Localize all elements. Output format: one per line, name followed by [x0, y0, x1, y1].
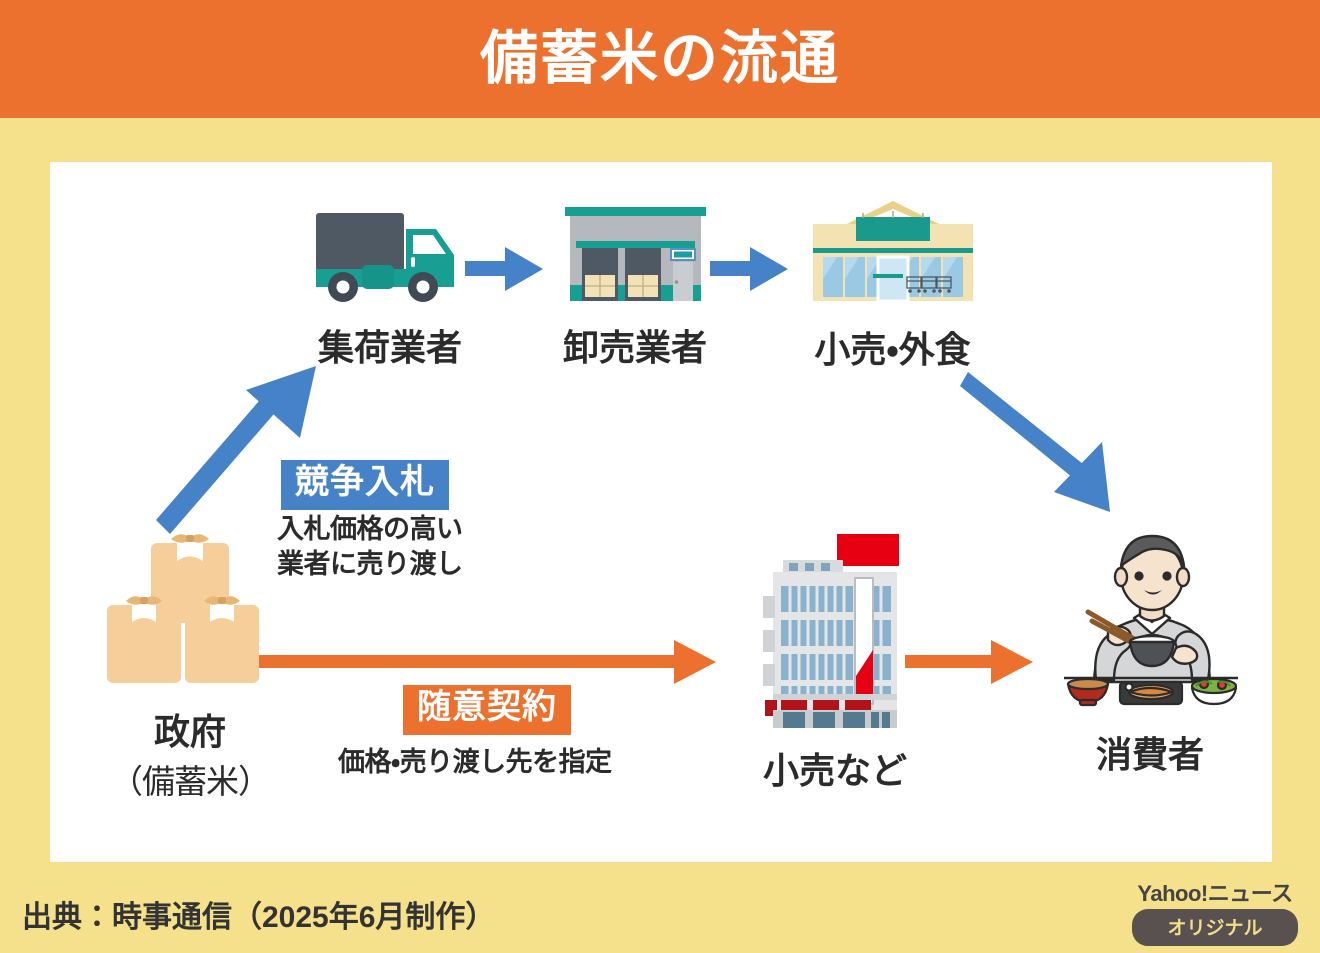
- node-retail-etc: 小売など: [730, 530, 940, 794]
- node-retail-food: 小売・外食: [785, 197, 1000, 373]
- badge-negotiated-contract: 随意契約: [403, 685, 571, 735]
- node-government-label: 政府: [60, 703, 320, 755]
- warehouse-icon: [563, 205, 708, 305]
- rice-bags-icon-wrap: [60, 505, 320, 695]
- yahoo-news-name: Yahoo!ニュース: [1132, 882, 1298, 905]
- node-government: 政府 （備蓄米）: [60, 505, 320, 803]
- yahoo-news-original-badge: オリジナル: [1132, 909, 1298, 946]
- node-consumer: 消費者: [1030, 520, 1270, 778]
- person-eating-rice-icon-wrap: [1030, 520, 1270, 720]
- delivery-truck-icon-wrap: [285, 205, 495, 305]
- node-collector-label: 集荷業者: [285, 319, 495, 371]
- node-wholesaler-label: 卸売業者: [540, 319, 730, 371]
- arrow-retail-food-to-consumer: [960, 370, 1140, 520]
- node-collector: 集荷業者: [285, 205, 495, 371]
- rice-bags-icon: [105, 505, 275, 695]
- person-eating-rice-icon: [1050, 520, 1250, 720]
- supermarket-icon: [803, 197, 983, 307]
- node-government-sublabel: （備蓄米）: [60, 755, 320, 803]
- badge-competitive-bidding: 競争入札: [281, 460, 449, 510]
- page-header: 備蓄米の流通: [0, 0, 1320, 118]
- warehouse-icon-wrap: [540, 205, 730, 305]
- delivery-truck-icon: [310, 205, 470, 305]
- caption-negotiated-contract: 価格・売り渡し先を指定: [338, 745, 612, 780]
- node-retail-food-label: 小売・外食: [785, 321, 1000, 373]
- supermarket-icon-wrap: [785, 197, 1000, 307]
- footer-source: 出典：時事通信（2025年6月制作）: [22, 892, 495, 936]
- department-store-icon-wrap: [730, 530, 940, 730]
- node-retail-etc-label: 小売など: [730, 742, 940, 794]
- caption-contract-line1: 価格・売り渡し先を指定: [338, 745, 612, 780]
- page-title: 備蓄米の流通: [480, 30, 840, 88]
- node-wholesaler: 卸売業者: [540, 205, 730, 371]
- yahoo-news-brand: Yahoo!ニュース オリジナル: [1132, 882, 1298, 946]
- node-consumer-label: 消費者: [1030, 726, 1270, 778]
- department-store-icon: [761, 530, 909, 730]
